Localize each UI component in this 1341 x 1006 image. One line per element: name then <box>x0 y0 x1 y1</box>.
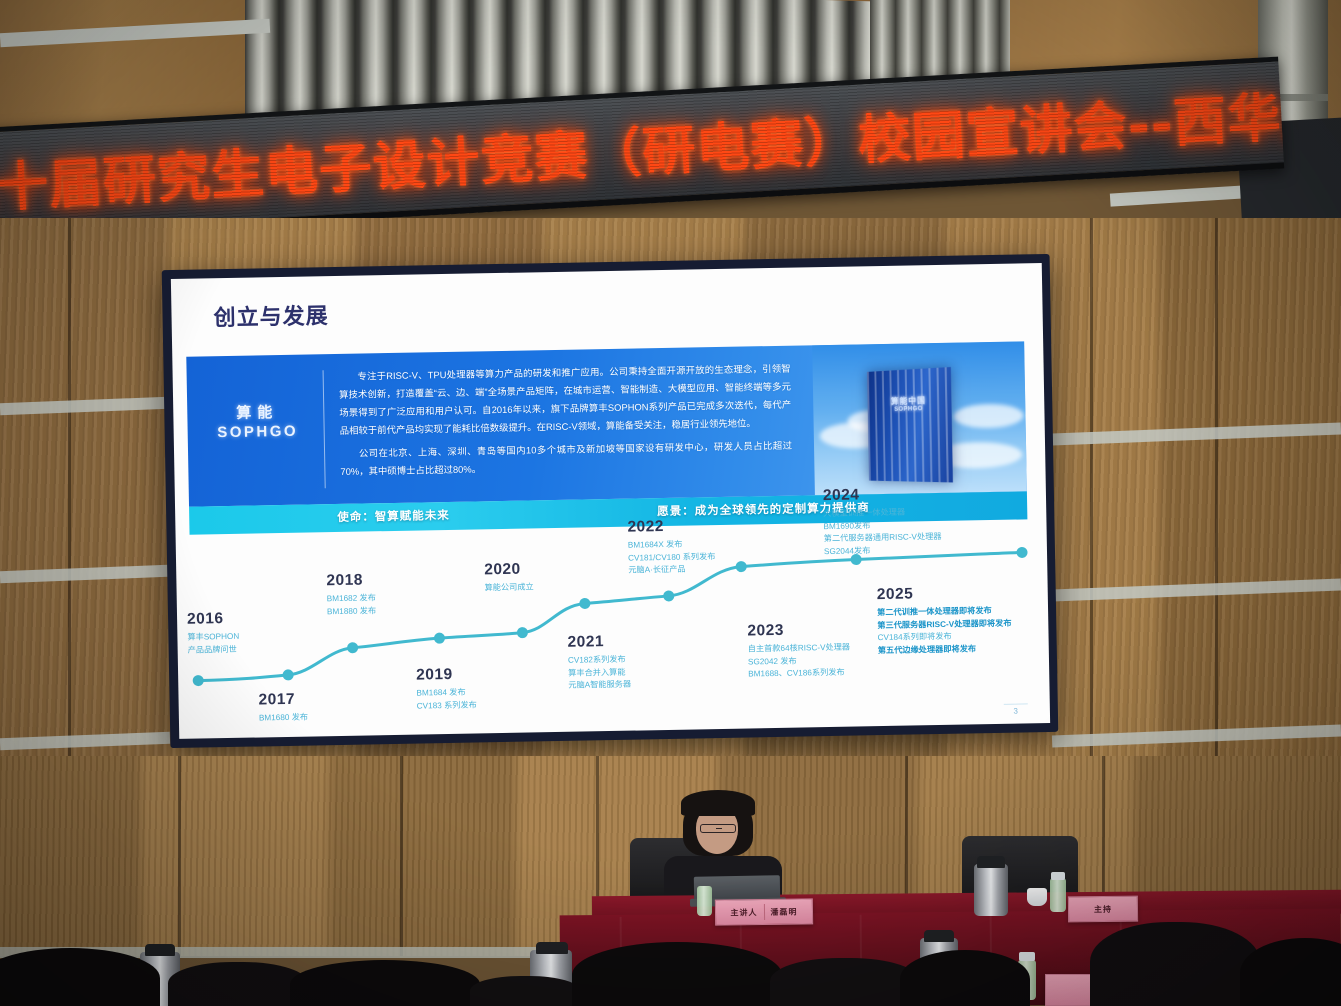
speaker-nameplate: 主讲人 潘磊明 <box>715 898 813 925</box>
speaker-fringe <box>681 790 755 816</box>
wall-seam <box>1215 218 1218 778</box>
timeline-detail: BM1684X 发布 CV181/CV180 系列发布 元脑A·长征产品 <box>628 537 779 578</box>
timeline-year: 2019 <box>416 664 548 684</box>
timeline-detail: 算丰SOPHON 产品品牌问世 <box>187 629 319 657</box>
tea-cup-icon[interactable] <box>1027 888 1047 906</box>
timeline-event-2018: 2018 BM1682 发布 BM1880 发布 <box>326 570 459 619</box>
slide-title: 创立与发展 <box>213 298 329 332</box>
tower-logo: 算能中国 SOPHGO <box>875 394 944 413</box>
upper-wall-wood-left <box>0 0 262 130</box>
timeline-dot <box>1016 547 1027 558</box>
audience-head <box>470 976 580 1006</box>
timeline-dot <box>579 598 590 609</box>
company-description-p1: 专注于RISC-V、TPU处理器等算力产品的研发和推广应用。公司秉持全面开源开放… <box>339 360 792 440</box>
slide-page-number: 3 <box>1003 703 1028 715</box>
sophgo-tower: 算能中国 SOPHGO <box>867 367 953 482</box>
thermos-cap <box>924 930 954 942</box>
timeline-event-2016: 2016 算丰SOPHON 产品品牌问世 <box>187 608 320 657</box>
sophgo-logo: 算能 SOPHGO <box>203 400 312 441</box>
speaker-nameplate-name: 潘磊明 <box>770 906 797 917</box>
conference-hall-photo: 二十届研究生电子设计竞赛（研电赛）校园宣讲会--西华大学专场 创立与发展 算能 … <box>0 0 1341 1006</box>
timeline-year: 2021 <box>567 631 699 651</box>
timeline-dot <box>193 675 204 686</box>
timeline-event-2024: 2024 大模型训推一体处理器 BM1690发布 第二代服务器通用RISC-V处… <box>823 484 994 559</box>
audience-head <box>900 950 1030 1006</box>
wall-seam <box>178 756 181 956</box>
tower-logo-en: SOPHGO <box>875 405 943 413</box>
company-description-p2: 公司在北京、上海、深圳、青岛等国内10多个城市及新加坡等国家设有研发中心，研发人… <box>340 437 793 481</box>
water-bottle-cap <box>1051 872 1065 880</box>
timeline-detail: BM1680 发布 <box>259 710 391 725</box>
timeline-detail: BM1684 发布 CV183 系列发布 <box>416 685 548 713</box>
presentation-slide: 创立与发展 算能 SOPHGO 专注于RISC-V、TPU处理器等算力产品的研发… <box>171 263 1050 739</box>
timeline-detail: CV182系列发布 算丰合并入算能 元脑A智能服务器 <box>568 652 701 693</box>
water-bottle-icon[interactable] <box>697 886 712 916</box>
water-bottle-icon[interactable] <box>1050 878 1066 912</box>
moderator-nameplate-role: 主持 <box>1094 903 1112 914</box>
hero-divider <box>323 370 326 488</box>
tower-logo-cn: 算能中国 <box>891 396 926 406</box>
slide-hero-band: 算能 SOPHGO 专注于RISC-V、TPU处理器等算力产品的研发和推广应用。… <box>186 341 1027 506</box>
water-bottle-cap <box>1019 952 1035 961</box>
sophgo-logo-cn: 算能 <box>203 400 311 423</box>
glasses-icon <box>700 824 736 833</box>
projection-screen[interactable]: 创立与发展 算能 SOPHGO 专注于RISC-V、TPU处理器等算力产品的研发… <box>162 254 1059 748</box>
thermos-icon[interactable] <box>974 864 1008 916</box>
timeline-event-2019: 2019 BM1684 发布 CV183 系列发布 <box>416 664 549 713</box>
timeline-detail: 第二代训推一体处理器即将发布 第三代服务器RISC-V处理器即将发布 CV184… <box>877 604 1050 658</box>
timeline-year: 2016 <box>187 608 319 628</box>
timeline-dot <box>517 627 528 638</box>
audience-head <box>572 942 782 1006</box>
wall-seam <box>400 756 403 956</box>
speaker-nameplate-role: 主讲人 <box>730 907 757 918</box>
timeline-event-2020: 2020 算能公司成立 <box>484 559 617 595</box>
moderator-nameplate: 主持 <box>1068 896 1138 923</box>
timeline-year: 2022 <box>627 516 777 537</box>
timeline-dot <box>347 642 358 653</box>
headquarters-building-photo: 算能中国 SOPHGO <box>812 341 1027 495</box>
audience-head <box>0 948 160 1006</box>
timeline-detail: 算能公司成立 <box>484 580 616 595</box>
timeline-year: 2017 <box>258 689 390 709</box>
thermos-cap <box>536 942 568 954</box>
timeline-detail: 大模型训推一体处理器 BM1690发布 第二代服务器通用RISC-V处理器 SG… <box>823 505 994 559</box>
timeline-year: 2025 <box>877 583 1051 604</box>
timeline-chart: 2016 算丰SOPHON 产品品牌问世 2017 BM1680 发布 2018 <box>176 525 1047 736</box>
timeline-year: 2018 <box>326 570 458 590</box>
cloud <box>953 403 1023 428</box>
timeline-year: 2020 <box>484 559 616 579</box>
wall-seam <box>68 218 71 778</box>
audience-head <box>770 958 920 1006</box>
timeline-event-2022: 2022 BM1684X 发布 CV181/CV180 系列发布 元脑A·长征产… <box>627 516 778 578</box>
audience-head <box>1090 922 1260 1006</box>
company-description: 专注于RISC-V、TPU处理器等算力产品的研发和推广应用。公司秉持全面开源开放… <box>339 360 793 482</box>
timeline-event-2021: 2021 CV182系列发布 算丰合并入算能 元脑A智能服务器 <box>567 631 700 693</box>
audience-head <box>290 960 480 1006</box>
timeline-event-2017: 2017 BM1680 发布 <box>258 689 391 725</box>
timeline-year: 2024 <box>823 484 993 505</box>
sophgo-logo-en: SOPHGO <box>204 422 312 441</box>
thermos-cap <box>145 944 175 956</box>
timeline-dot <box>434 633 445 644</box>
timeline-event-2025: 2025 第二代训推一体处理器即将发布 第三代服务器RISC-V处理器即将发布 … <box>877 583 1051 658</box>
timeline-dot <box>663 590 674 601</box>
thermos-cap <box>977 856 1005 868</box>
mission-text: 使命：智算赋能未来 <box>337 507 450 525</box>
nameplate-divider <box>763 904 764 920</box>
timeline-dot <box>283 669 294 680</box>
wall-seam <box>1090 218 1093 778</box>
audience-head <box>168 962 308 1006</box>
timeline-detail: BM1682 发布 BM1880 发布 <box>327 591 459 619</box>
